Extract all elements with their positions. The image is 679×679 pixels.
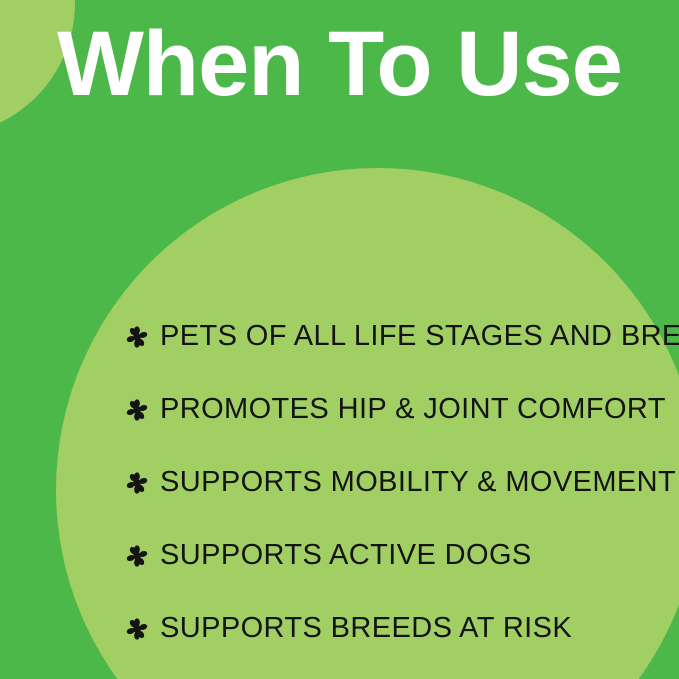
list-item: SUPPORTS ACTIVE DOGS bbox=[126, 519, 666, 592]
flower-asterisk-bullet-icon bbox=[126, 399, 148, 421]
list-item-label: PROMOTES HIP & JOINT COMFORT bbox=[160, 395, 666, 424]
flower-asterisk-bullet-icon bbox=[126, 472, 148, 494]
list-item-label: SUPPORTS MOBILITY & MOVEMENT bbox=[160, 468, 676, 497]
page-title-block: When To Use bbox=[0, 18, 679, 112]
flower-asterisk-bullet-icon bbox=[126, 618, 148, 640]
list-item: SUPPORTS MOBILITY & MOVEMENT bbox=[126, 446, 666, 519]
flower-asterisk-bullet-icon bbox=[126, 545, 148, 567]
list-item: PETS OF ALL LIFE STAGES AND BREEDS bbox=[126, 300, 666, 373]
when-to-use-infographic: When To Use PETS OF ALL LIFE STAGES AND … bbox=[0, 0, 679, 679]
list-item-label: SUPPORTS BREEDS AT RISK bbox=[160, 614, 572, 643]
benefits-list: PETS OF ALL LIFE STAGES AND BREEDS PROMO… bbox=[126, 300, 666, 665]
list-item: PROMOTES HIP & JOINT COMFORT bbox=[126, 373, 666, 446]
list-item-label: PETS OF ALL LIFE STAGES AND BREEDS bbox=[160, 322, 679, 351]
flower-asterisk-bullet-icon bbox=[126, 326, 148, 348]
page-title: When To Use bbox=[57, 18, 622, 112]
list-item-label: SUPPORTS ACTIVE DOGS bbox=[160, 541, 532, 570]
list-item: SUPPORTS BREEDS AT RISK bbox=[126, 592, 666, 665]
